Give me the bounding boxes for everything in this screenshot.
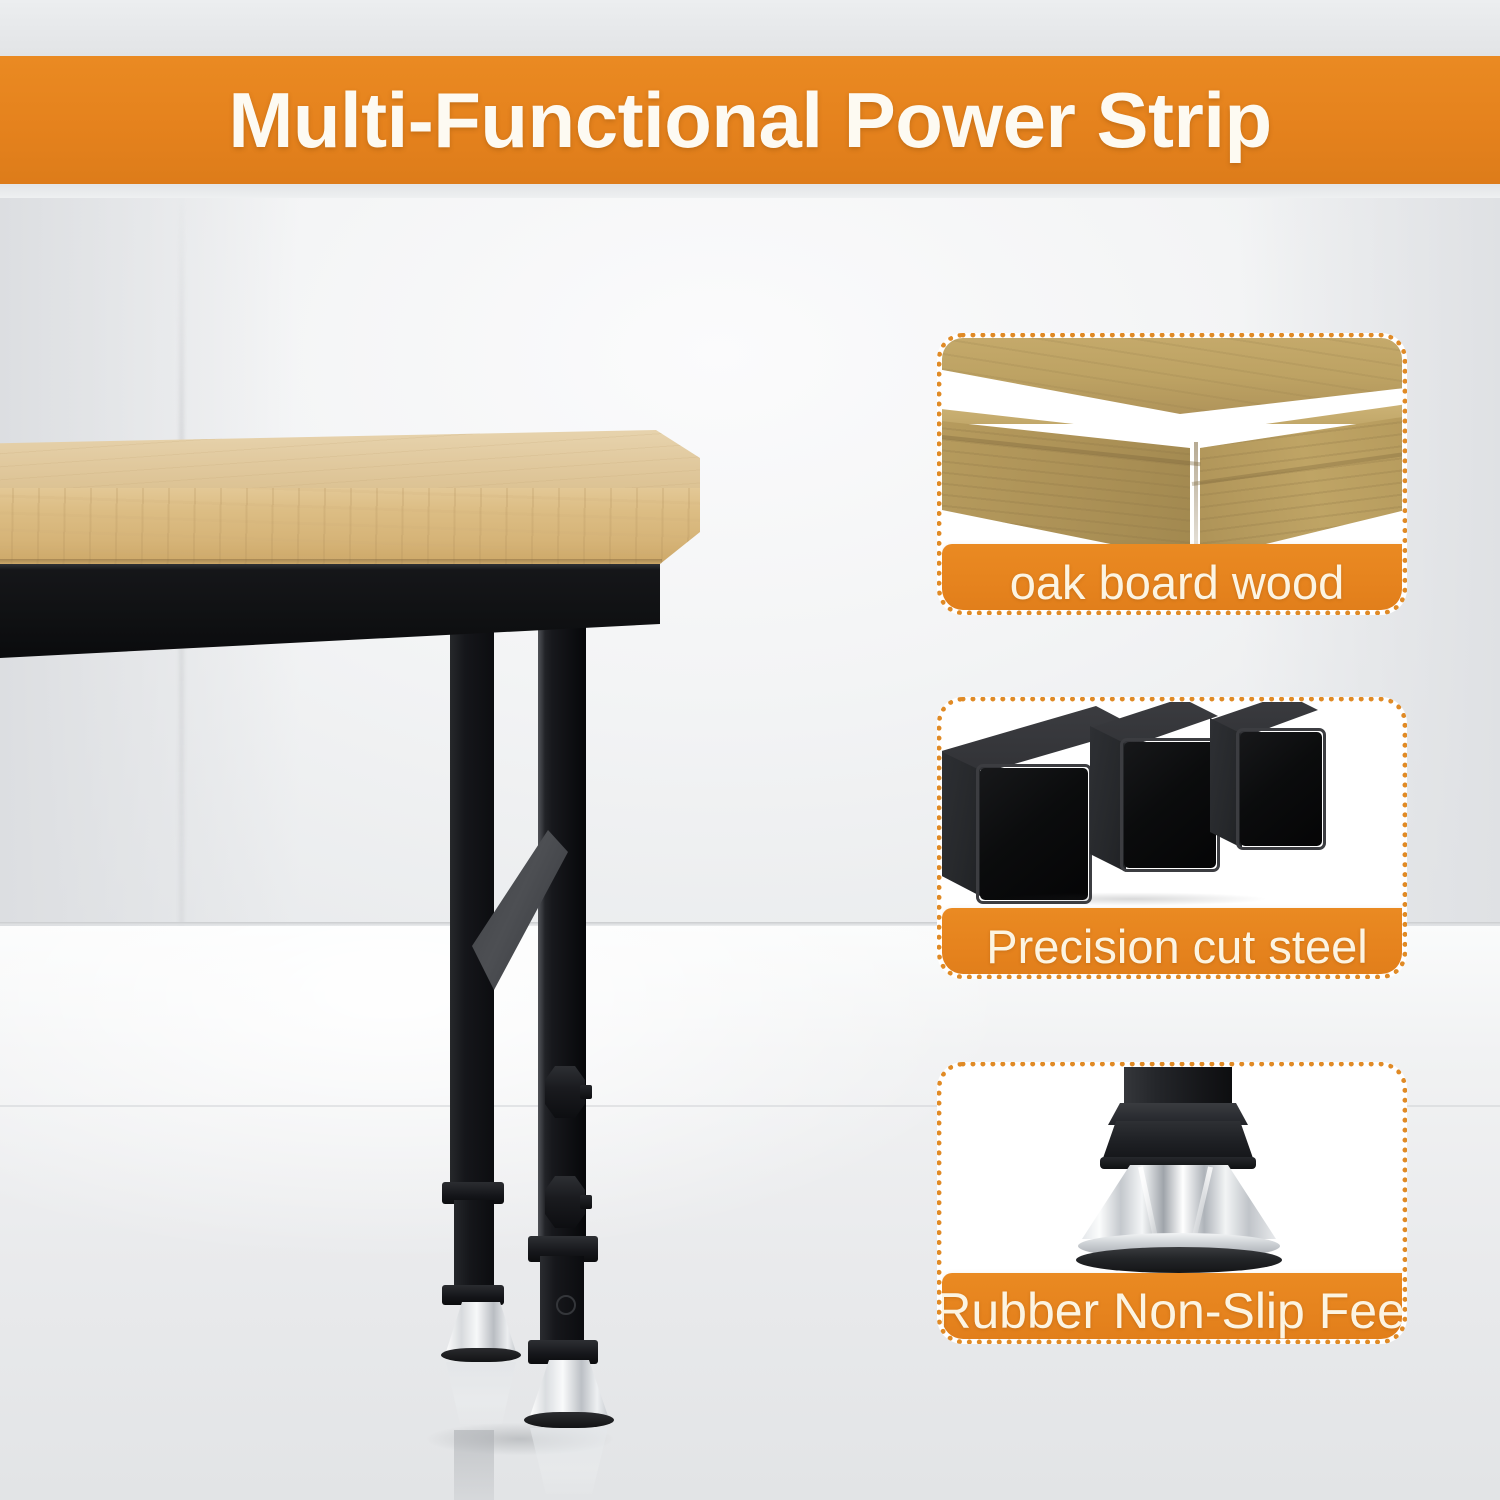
tube-hollow-opening [1124,742,1216,868]
feature-card-label-text: Rubber Non-Slip Feet [937,1286,1407,1336]
steel-tubes-shadow [952,890,1312,908]
rubber-non-slip-pad [1076,1247,1282,1273]
banner-top-margin [0,0,1500,56]
product-feature-image: Multi-Functional Power Strip oak board w… [0,0,1500,1500]
feature-card-frame: Rubber Non-Slip Feet [937,1062,1407,1344]
feature-card-label-text: oak board wood [1010,559,1344,606]
feature-card-label-bar: Precision cut steel [942,908,1407,979]
feature-card-oak-board-wood: oak board wood [937,333,1407,615]
front-foot-rubber-pad [524,1412,614,1428]
front-leg-port-icon [556,1295,576,1315]
feature-card-label-bar: Rubber Non-Slip Feet [942,1273,1407,1344]
height-adjustment-knob-lower [545,1176,585,1228]
rear-leg-lower [454,1200,494,1292]
tube-hollow-opening [1240,732,1322,846]
feature-card-frame: oak board wood [937,333,1407,615]
height-adjustment-knob-upper [545,1066,585,1118]
page-title: Multi-Functional Power Strip [228,81,1271,159]
diagonal-cross-brace [472,830,568,990]
feature-card-label-bar: oak board wood [942,544,1407,615]
tube-hollow-opening [980,768,1088,900]
rear-foot-rubber-pad [441,1348,521,1362]
oak-edge-grain [0,488,700,564]
knob-tab-lower [580,1195,592,1209]
oak-workbench [0,430,760,1450]
feature-card-frame: Precision cut steel [937,697,1407,979]
rear-leg-floor-reflection [454,1430,494,1500]
feature-card-label-text: Precision cut steel [986,923,1367,970]
feature-card-precision-cut-steel: Precision cut steel [937,697,1407,979]
knob-tab-upper [580,1085,592,1099]
banner-bottom-margin [0,184,1500,198]
feature-card-rubber-non-slip-feet: Rubber Non-Slip Feet [937,1062,1407,1344]
header-banner: Multi-Functional Power Strip [0,56,1500,184]
oak-edge-shadow [0,559,662,564]
